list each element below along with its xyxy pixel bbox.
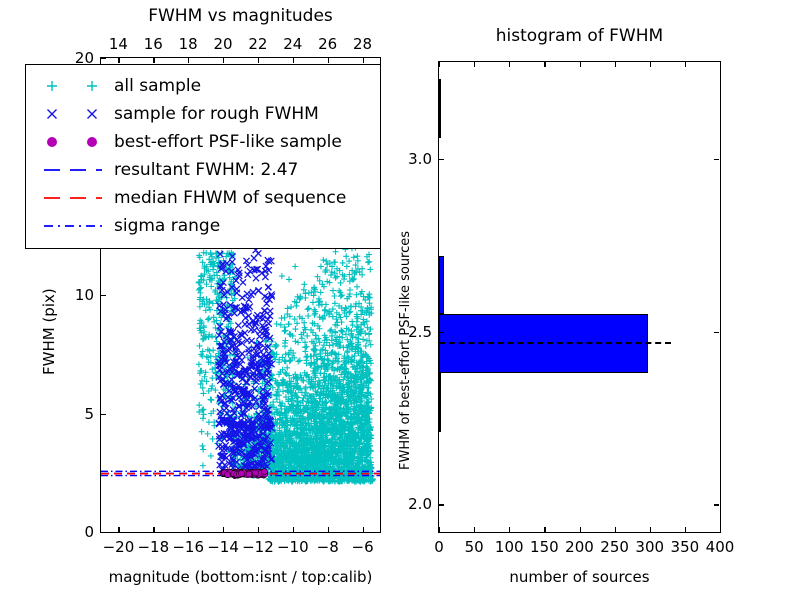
left-ytick-mark <box>101 532 106 533</box>
left-ytick-label: 5 <box>42 405 94 423</box>
legend-key-glyph <box>36 131 114 153</box>
left-top-xtick-mark <box>258 58 259 63</box>
legend-marker-dashed-icon <box>36 159 114 181</box>
legend-item: all sample <box>36 72 370 100</box>
left-ytick-mark <box>101 58 106 59</box>
right-top-xtick-mark <box>544 62 545 67</box>
left-top-xtick-mark <box>188 58 189 63</box>
right-ytick-mark <box>439 332 444 333</box>
right-xtick-mark <box>615 527 616 532</box>
left-ytick-mark <box>101 414 106 415</box>
right-top-xtick-mark <box>615 62 616 67</box>
left-top-xtick-mark <box>153 58 154 63</box>
right-panel-xlabel: number of sources <box>438 568 721 586</box>
legend-item: resultant FWHM: 2.47 <box>36 156 370 184</box>
legend-marker-dashdot-icon <box>36 215 114 237</box>
histogram-bar[interactable] <box>439 373 441 432</box>
legend-item: sample for rough FWHM <box>36 100 370 128</box>
left-top-xtick-label: 28 <box>333 35 393 53</box>
left-top-xtick-mark <box>118 58 119 63</box>
left-xtick-label: −6 <box>333 538 393 556</box>
right-xtick-mark <box>544 527 545 532</box>
histogram-canvas <box>439 62 720 532</box>
left-top-xtick-mark <box>293 58 294 63</box>
figure-canvas: FWHM vs magnitudes 1416182022242628 −20−… <box>0 0 800 600</box>
right-xtick-mark <box>685 527 686 532</box>
right-ytick-label: 3.0 <box>386 150 432 168</box>
left-top-xtick-mark <box>223 58 224 63</box>
right-xtick-mark <box>650 527 651 532</box>
left-top-xtick-mark <box>328 58 329 63</box>
legend-item-label: sample for rough FWHM <box>114 106 319 123</box>
legend-item-label: all sample <box>114 78 201 95</box>
right-top-xtick-mark <box>474 62 475 67</box>
right-xtick-mark <box>509 527 510 532</box>
legend-key-glyph <box>36 75 114 97</box>
series-psf-like-sample <box>220 469 268 479</box>
right-ytick-mark-mirror <box>714 159 719 160</box>
right-top-xtick-mark <box>509 62 510 67</box>
histogram-bar[interactable] <box>439 79 441 138</box>
left-panel-ylabel: FWHM (pix) <box>40 288 58 375</box>
legend-item: best-effort PSF-like sample <box>36 128 370 156</box>
left-xtick-mark <box>188 527 189 532</box>
legend-marker-plus-icon <box>36 75 114 97</box>
right-ytick-mark-mirror <box>714 504 719 505</box>
right-top-xtick-mark <box>685 62 686 67</box>
right-panel-ylabel: FWHM of best-effort PSF-like sources <box>398 231 413 470</box>
legend-item-label: best-effort PSF-like sample <box>114 134 342 151</box>
right-xtick-mark <box>474 527 475 532</box>
right-xtick-mark <box>439 527 440 532</box>
right-top-xtick-mark <box>720 62 721 67</box>
left-xtick-mark <box>153 527 154 532</box>
histogram-bar[interactable] <box>439 256 444 315</box>
right-top-xtick-mark <box>580 62 581 67</box>
legend-key-glyph <box>36 215 114 237</box>
left-ytick-label: 0 <box>42 523 94 541</box>
legend-key-glyph <box>36 187 114 209</box>
histogram-resultant-fwhm-line <box>439 342 671 344</box>
left-panel-xlabel: magnitude (bottom:isnt / top:calib) <box>100 568 381 586</box>
left-panel-title: FWHM vs magnitudes <box>100 6 381 26</box>
left-xtick-mark <box>363 527 364 532</box>
legend-marker-dot-icon <box>36 131 114 153</box>
right-ytick-mark <box>439 159 444 160</box>
left-xtick-mark <box>328 527 329 532</box>
right-xtick-mark <box>720 527 721 532</box>
right-xtick-label: 400 <box>690 538 750 556</box>
legend-item-label: resultant FWHM: 2.47 <box>114 162 298 179</box>
right-xtick-mark <box>580 527 581 532</box>
legend-key-glyph <box>36 159 114 181</box>
left-ytick-mark <box>101 295 106 296</box>
left-top-xtick-mark <box>363 58 364 63</box>
legend-key-glyph <box>36 103 114 125</box>
histogram-panel[interactable] <box>438 61 721 533</box>
series-rough-fwhm-sample <box>216 247 275 474</box>
right-ytick-mark-mirror <box>714 332 719 333</box>
left-xtick-mark <box>118 527 119 532</box>
right-panel-title: histogram of FWHM <box>438 26 721 46</box>
legend-item: median FHWM of sequence <box>36 184 370 212</box>
legend-box: all samplesample for rough FWHMbest-effo… <box>25 64 381 249</box>
right-ytick-label: 2.0 <box>386 495 432 513</box>
legend-marker-dashed-icon <box>36 187 114 209</box>
legend-marker-cross-icon <box>36 103 114 125</box>
left-xtick-mark <box>223 527 224 532</box>
left-xtick-mark <box>258 527 259 532</box>
right-top-xtick-mark <box>650 62 651 67</box>
right-top-xtick-mark <box>439 62 440 67</box>
legend-item-label: median FHWM of sequence <box>114 190 346 207</box>
right-ytick-mark <box>439 504 444 505</box>
left-xtick-mark <box>293 527 294 532</box>
legend-item: sigma range <box>36 212 370 240</box>
rough-fwhm-markers <box>216 247 275 474</box>
legend-item-label: sigma range <box>114 218 220 235</box>
